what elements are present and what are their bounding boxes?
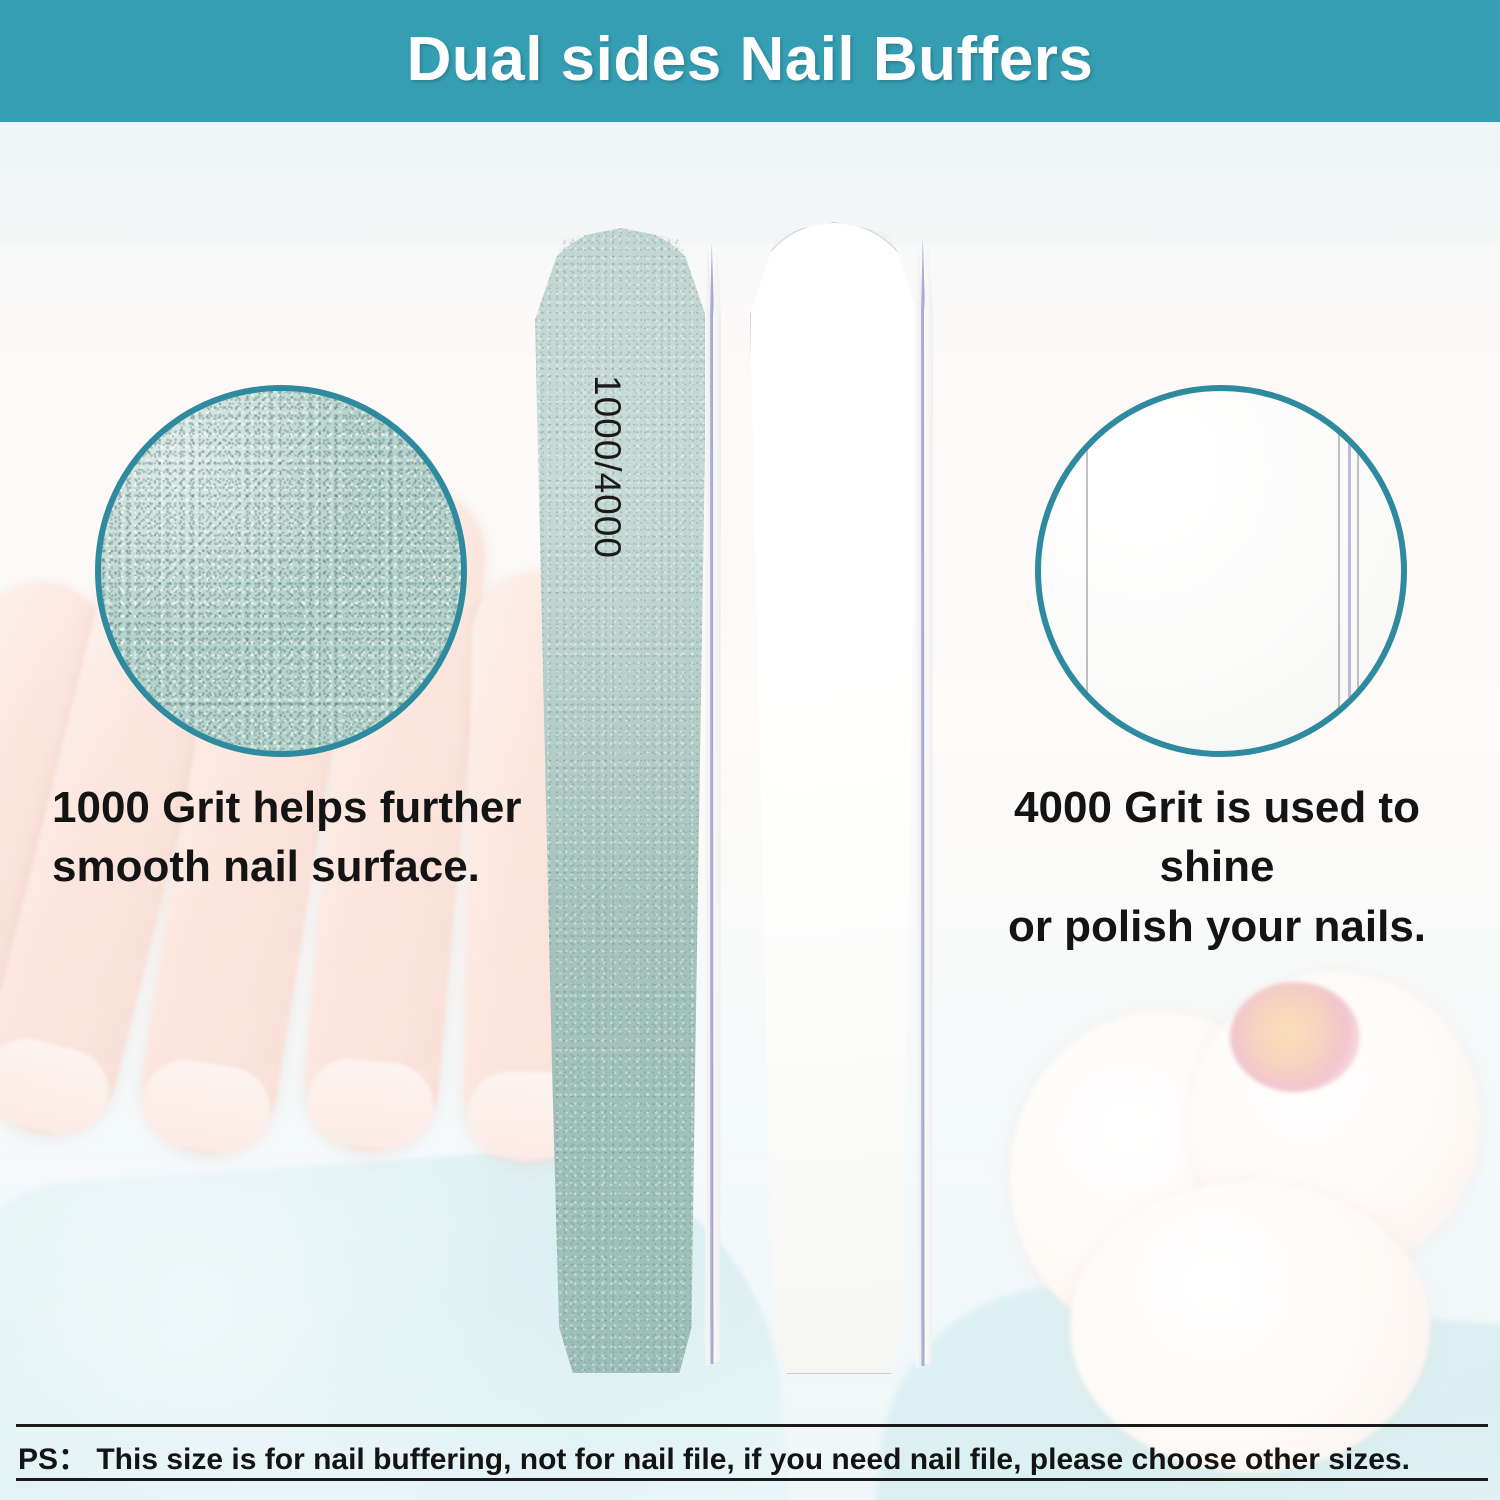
zoom-circle-4000-grit <box>1035 385 1407 757</box>
fingernail <box>136 1054 276 1159</box>
buffer-edge-stripe <box>1348 385 1351 757</box>
buffer-edge-white-strip <box>915 228 922 1368</box>
buffer-edge-white-strip <box>924 232 933 1364</box>
buffer-edge-white-strip <box>713 238 721 1362</box>
orchid-flower <box>980 952 1500 1472</box>
caption-line: smooth nail surface. <box>52 837 522 896</box>
caption-1000-grit: 1000 Grit helps further smooth nail surf… <box>52 778 522 897</box>
buffer-edge-line <box>1357 385 1359 757</box>
page-title: Dual sides Nail Buffers <box>407 24 1094 99</box>
grit-texture <box>95 385 467 757</box>
product-infographic: Dual sides Nail Buffers 1000/4000 1000 G… <box>0 0 1500 1500</box>
fingernail <box>304 1056 437 1153</box>
header-banner: Dual sides Nail Buffers <box>0 0 1500 122</box>
ps-note: PS： This size is for nail buffering, not… <box>18 1434 1488 1478</box>
buffer-edge-line <box>1338 385 1340 757</box>
footer-divider-top <box>16 1424 1488 1427</box>
caption-line: or polish your nails. <box>952 897 1482 956</box>
caption-line: 1000 Grit helps further <box>52 778 522 837</box>
caption-line: 4000 Grit is used to shine <box>952 778 1482 897</box>
orchid-center <box>1230 982 1360 1092</box>
caption-4000-grit: 4000 Grit is used to shine or polish you… <box>952 778 1482 956</box>
footer-divider-bottom <box>16 1478 1488 1481</box>
zoom-circle-1000-grit <box>95 385 467 757</box>
orchid-petal <box>1070 1182 1430 1472</box>
buffer-edge-line <box>1086 385 1088 757</box>
grit-label: 1000/4000 <box>586 375 628 615</box>
fingernail <box>0 1030 117 1144</box>
nail-buffer-white-side <box>750 222 918 1374</box>
